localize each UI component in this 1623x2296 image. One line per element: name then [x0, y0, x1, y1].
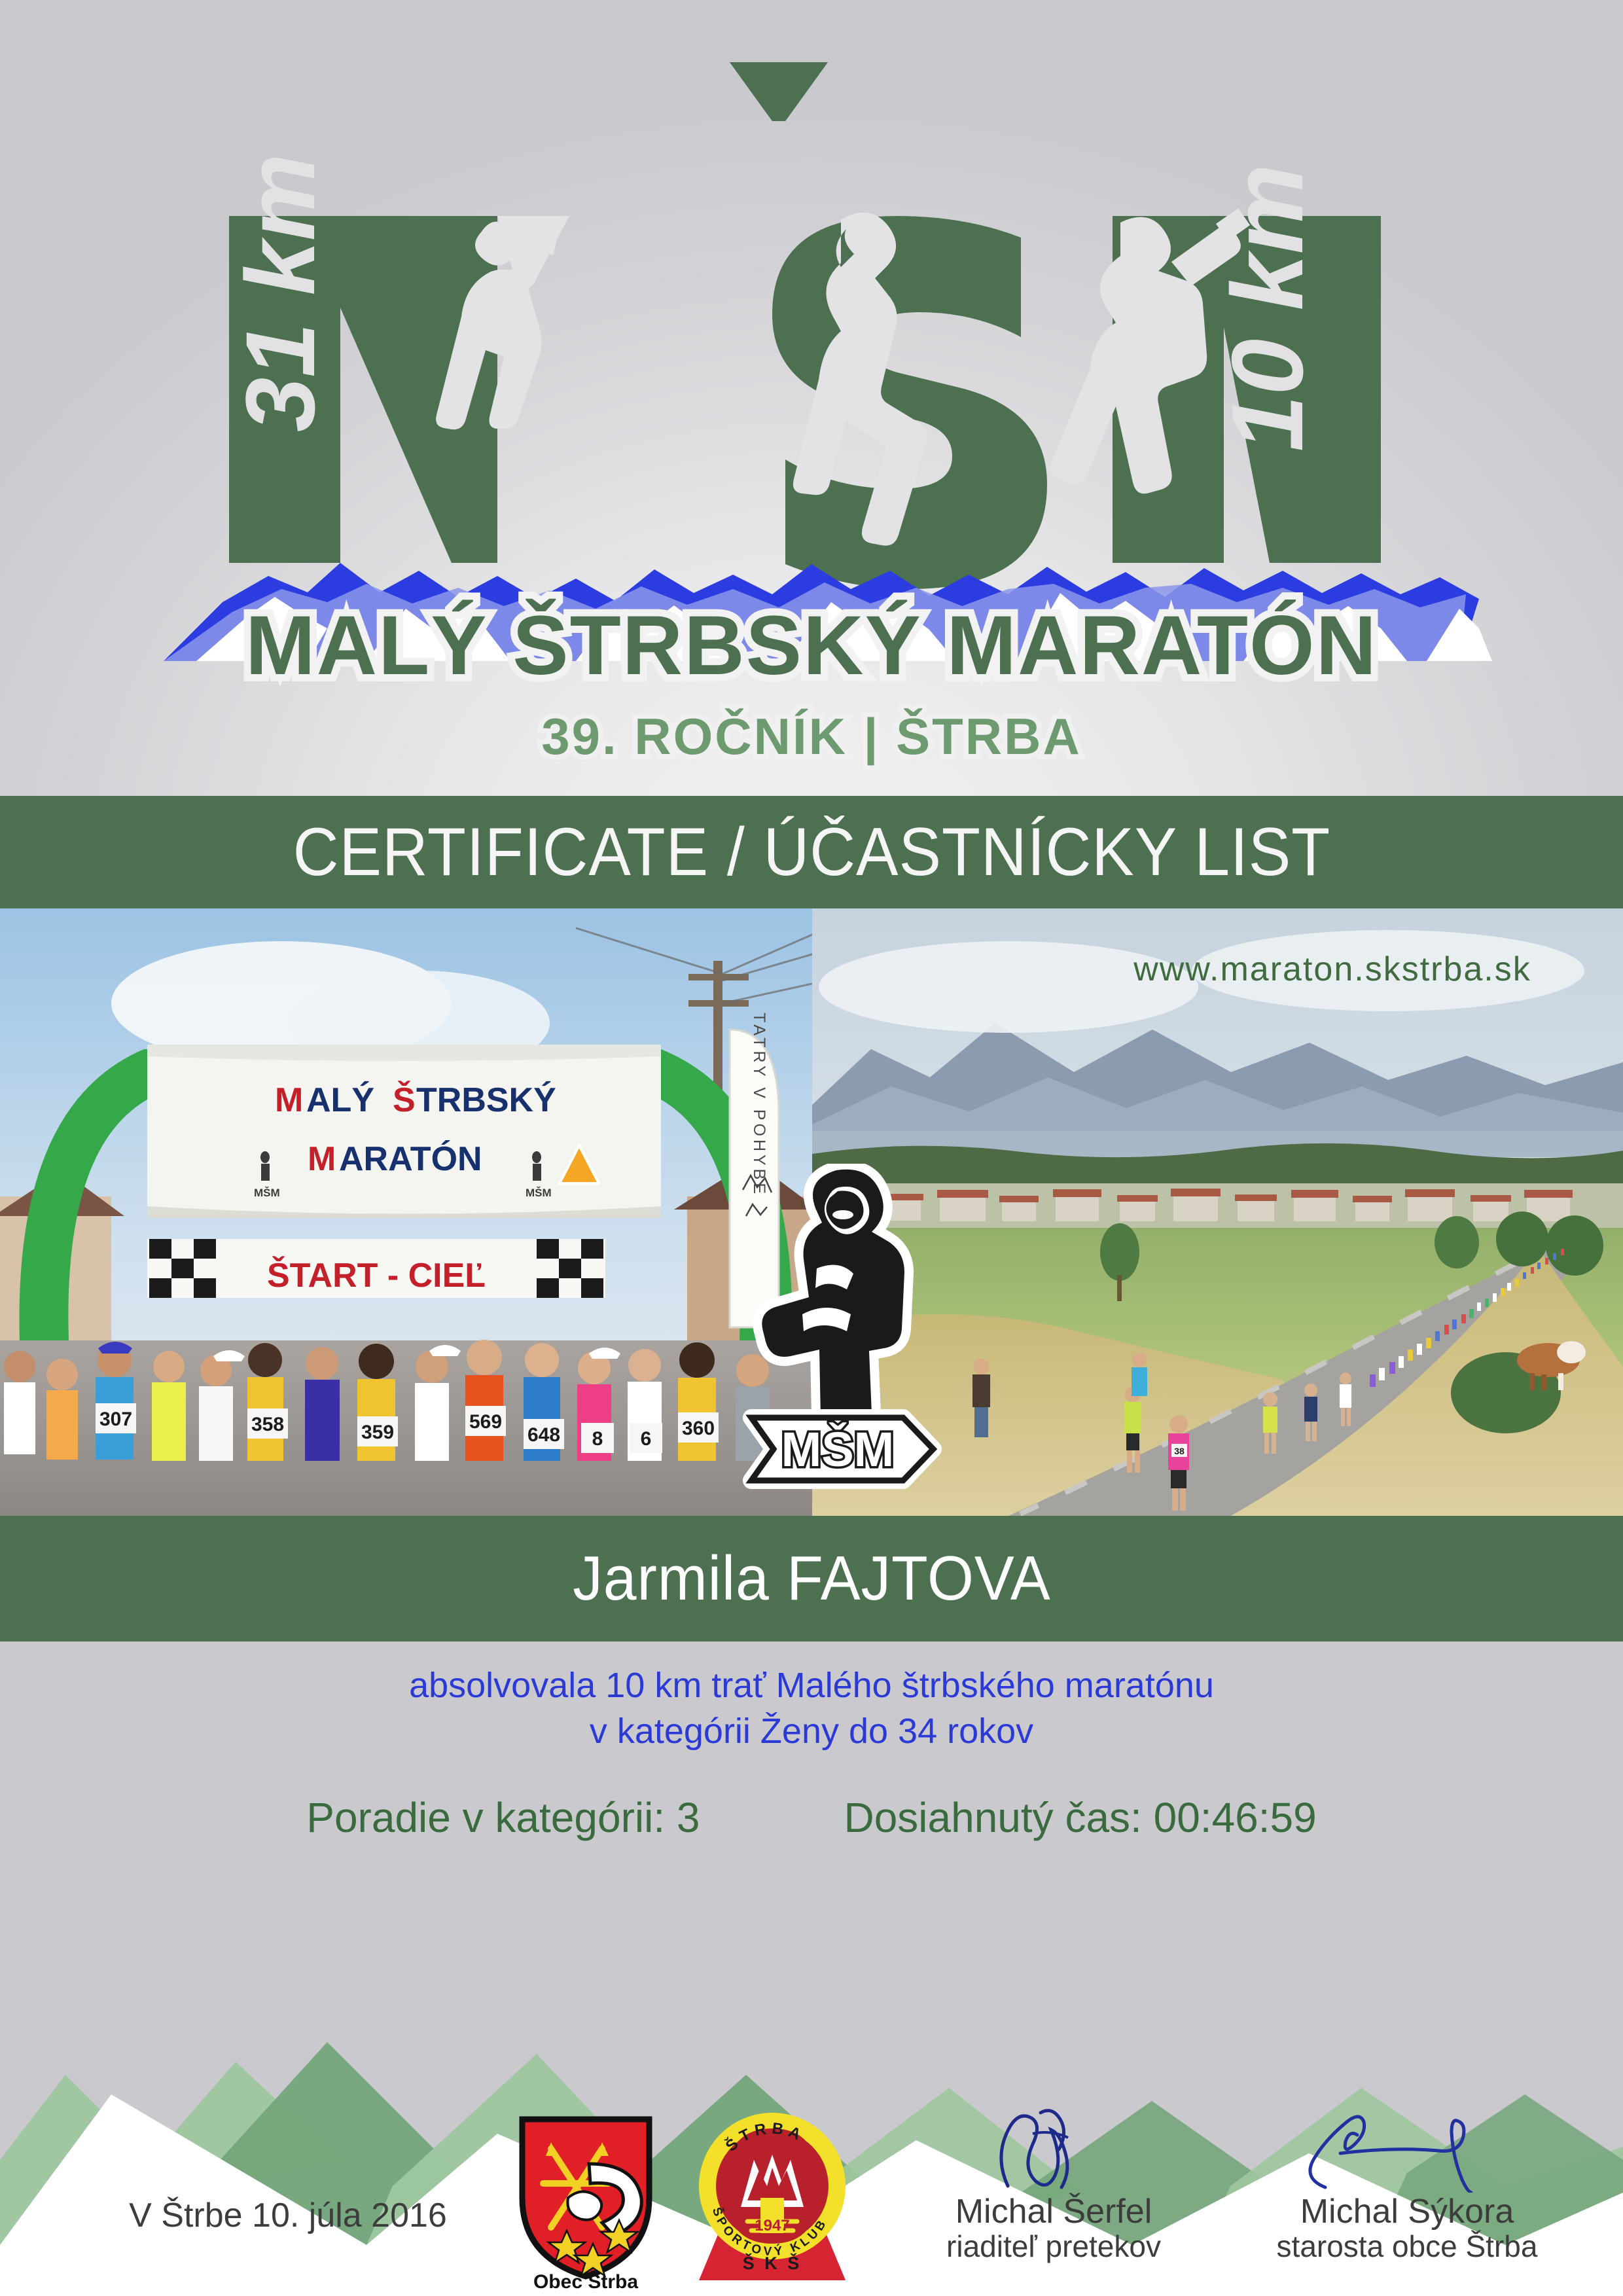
bib-number: 360: [682, 1418, 715, 1439]
issue-date: V Štrbe 10. júla 2016: [79, 2196, 497, 2235]
bib-number: 648: [527, 1424, 560, 1446]
svg-text:Š: Š: [393, 1081, 416, 1119]
svg-text:10 km: 10 km: [1211, 164, 1324, 452]
signature-block-mayor: Michal Sýkora starosta obce Štrba: [1198, 2108, 1616, 2263]
bib-number: 358: [251, 1414, 284, 1435]
result-time: Dosiahnutý čas: 00:46:59: [844, 1793, 1316, 1842]
certificate-footer: V Štrbe 10. júla 2016: [0, 2029, 1623, 2296]
svg-text:31 km: 31 km: [225, 154, 335, 432]
runner-crowd: 307 358 359 569 648 8 6 360: [4, 1340, 770, 1461]
sks-strba-logo: 1947 ŠTRBA ŠPORTOVÝ KLUB Š K Š: [694, 2102, 851, 2286]
event-subtitle: 39. ROČNÍK | ŠTRBA: [541, 708, 1082, 765]
svg-text:MŠM: MŠM: [526, 1187, 552, 1199]
event-logo-block: 31 km 10 km: [0, 0, 1623, 795]
arch-banner-start-finish: ŠTART - CIEĽ: [267, 1256, 486, 1295]
certificate-banner-title: CERTIFICATE / ÚČASTNÍCKY LIST: [293, 814, 1330, 891]
participant-name: Jarmila FAJTOVA: [573, 1543, 1050, 1615]
distance-10km-label: 10 km: [1211, 164, 1324, 452]
certificate-description: absolvovala 10 km trať Malého štrbského …: [0, 1662, 1623, 1754]
club-initials: Š K Š: [743, 2253, 802, 2273]
signatory-role: starosta obce Štrba: [1198, 2230, 1616, 2263]
crest-caption: Obec Štrba: [533, 2270, 638, 2289]
bib-number: 8: [592, 1428, 603, 1450]
club-year: 1947: [755, 2217, 789, 2234]
photo-strip: M ALÝ Š TRBSKÝ M ARATÓN MŠM MŠM: [0, 908, 1623, 1516]
svg-text:M: M: [308, 1140, 336, 1178]
signature-scribble-mayor: [1198, 2108, 1616, 2193]
result-rank: Poradie v kategórii: 3: [306, 1793, 700, 1842]
msm-mascot-label: MŠM: [781, 1422, 895, 1477]
msm-mascot-logo: MŠM: [740, 1164, 962, 1498]
letter-M-right: 10 km: [1050, 164, 1381, 564]
photo-start-line: M ALÝ Š TRBSKÝ M ARATÓN MŠM MŠM: [0, 908, 812, 1516]
certificate-page: 31 km 10 km: [0, 0, 1623, 2296]
arch-text-maly: M: [275, 1081, 303, 1119]
certificate-banner: CERTIFICATE / ÚČASTNÍCKY LIST: [0, 796, 1623, 908]
bib-number: 569: [469, 1411, 502, 1433]
results-row: Poradie v kategórii: 3 Dosiahnutý čas: 0…: [0, 1793, 1623, 1842]
svg-text:ARATÓN: ARATÓN: [339, 1140, 482, 1178]
letter-M-left: 31 km: [225, 154, 569, 563]
event-logo-svg: 31 km 10 km: [0, 0, 1623, 795]
caron-mark: [730, 62, 828, 121]
description-line-1: absolvovala 10 km trať Malého štrbského …: [0, 1662, 1623, 1708]
description-line-2: v kategórii Ženy do 34 rokov: [0, 1708, 1623, 1754]
event-title: MALÝ ŠTRBSKÝ MARATÓN: [245, 599, 1378, 692]
distance-31km-label: 31 km: [225, 154, 335, 432]
website-url[interactable]: www.maraton.skstrba.sk: [1133, 950, 1531, 988]
msm-chevron-banner: MŠM: [751, 1418, 933, 1480]
bib-number: 6: [641, 1428, 652, 1450]
svg-text:MŠM: MŠM: [254, 1187, 280, 1199]
bib-number: 38: [1174, 1446, 1185, 1456]
obec-strba-crest: Obec Štrba: [504, 2113, 668, 2289]
bib-number: 359: [361, 1422, 394, 1443]
participant-name-banner: Jarmila FAJTOVA: [0, 1516, 1623, 1641]
svg-text:ALÝ: ALÝ: [306, 1081, 374, 1119]
signatory-name: Michal Sýkora: [1198, 2194, 1616, 2230]
svg-text:TRBSKÝ: TRBSKÝ: [416, 1081, 556, 1119]
bib-number: 307: [99, 1408, 132, 1430]
letter-S-middle: [772, 213, 1047, 589]
